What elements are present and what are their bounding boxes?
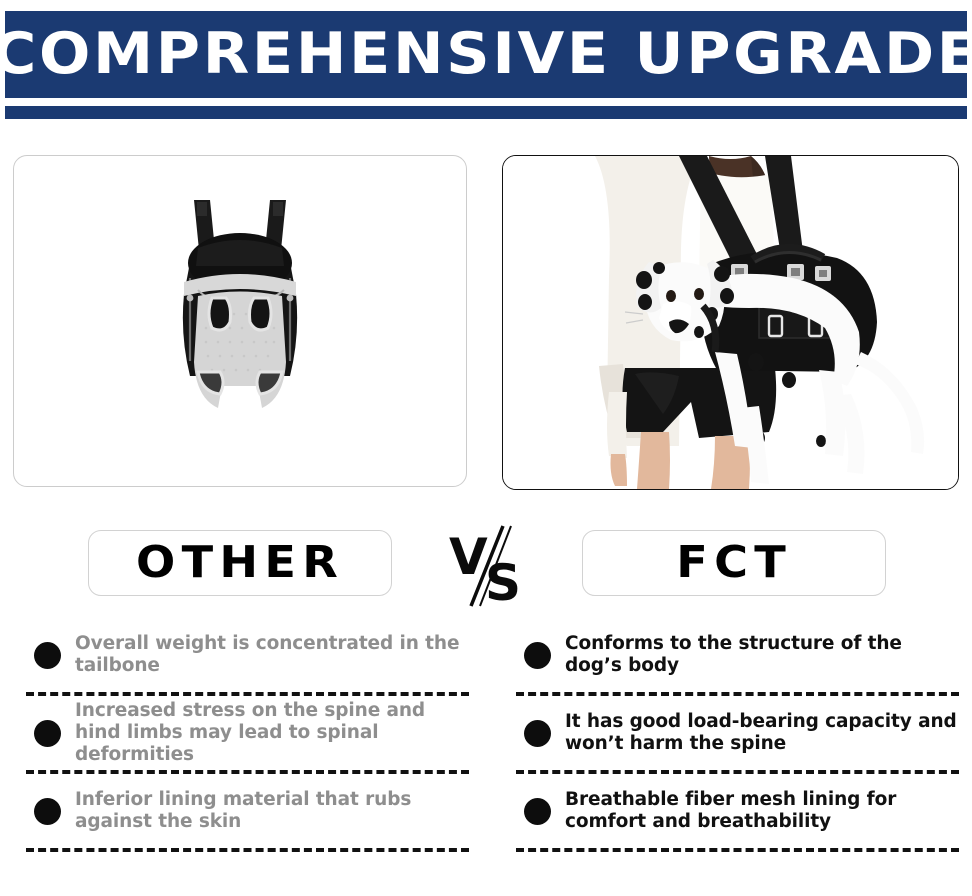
bullet-icon [34, 642, 61, 669]
other-label-pill: OTHER [88, 530, 392, 596]
bullet-icon [524, 642, 551, 669]
fct-product-photo [503, 156, 958, 489]
header-accent-bar [5, 106, 967, 119]
feature-text: Breathable fiber mesh lining for comfort… [565, 789, 959, 833]
feature-text: Overall weight is concentrated in the ta… [75, 633, 469, 677]
other-feature-list: Overall weight is concentrated in the ta… [26, 618, 469, 852]
feature-text: Conforms to the structure of the dog’s b… [565, 633, 959, 677]
bullet-icon [34, 720, 61, 747]
fct-product-panel [502, 155, 959, 490]
feature-comparison-lists: Overall weight is concentrated in the ta… [0, 618, 972, 896]
product-photo-row [0, 155, 972, 490]
list-item: Overall weight is concentrated in the ta… [26, 618, 469, 692]
feature-text: It has good load-bearing capacity and wo… [565, 711, 959, 755]
pet-carrier-backpack-illustration [150, 186, 330, 456]
fct-label-pill: FCT [582, 530, 886, 596]
page-title: COMPREHENSIVE UPGRADE [5, 26, 967, 83]
list-divider [26, 848, 469, 852]
feature-text: Inferior lining material that rubs again… [75, 789, 469, 833]
other-product-photo [14, 156, 466, 486]
header-banner: COMPREHENSIVE UPGRADE [5, 11, 967, 98]
bullet-icon [524, 798, 551, 825]
fct-feature-list: Conforms to the structure of the dog’s b… [516, 618, 959, 852]
list-item: Breathable fiber mesh lining for comfort… [516, 774, 959, 848]
list-item: Increased stress on the spine and hind l… [26, 696, 469, 770]
bullet-icon [34, 798, 61, 825]
fct-label: FCT [676, 541, 792, 585]
list-item: It has good load-bearing capacity and wo… [516, 696, 959, 770]
list-item: Inferior lining material that rubs again… [26, 774, 469, 848]
other-product-panel [13, 155, 467, 487]
list-divider [516, 848, 959, 852]
person-carrying-dog-illustration [503, 156, 958, 489]
other-label: OTHER [136, 541, 344, 585]
comparison-header-row: OTHER V S FCT [0, 522, 972, 608]
list-item: Conforms to the structure of the dog’s b… [516, 618, 959, 692]
vs-icon: V S [447, 522, 539, 608]
feature-text: Increased stress on the spine and hind l… [75, 700, 469, 765]
bullet-icon [524, 720, 551, 747]
